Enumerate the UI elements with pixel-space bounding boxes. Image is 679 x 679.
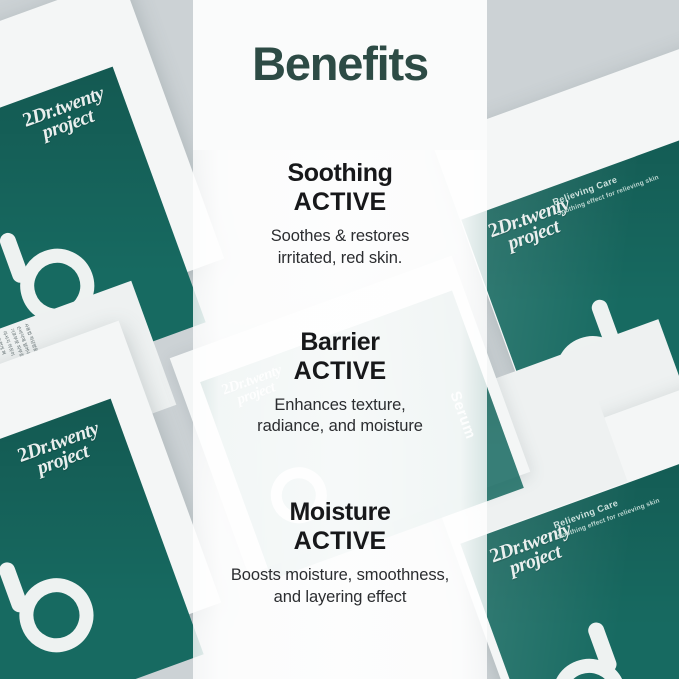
benefit-item-soothing: Soothing ACTIVE Soothes & restores irrit… bbox=[193, 159, 487, 270]
benefit-name: Moisture bbox=[290, 498, 391, 526]
benefit-description-line: irritated, red skin. bbox=[193, 248, 487, 270]
benefit-item-moisture: Moisture ACTIVE Boosts moisture, smoothn… bbox=[193, 498, 487, 609]
benefit-description: Enhances texture, radiance, and moisture bbox=[193, 395, 487, 439]
brand-logotype: 2Dr.twenty project bbox=[15, 419, 107, 482]
benefits-content: Benefits Soothing ACTIVE Soothes & resto… bbox=[193, 0, 487, 679]
benefit-active-label: ACTIVE bbox=[193, 357, 487, 386]
benefit-name: Soothing bbox=[287, 159, 392, 187]
benefit-active-label: ACTIVE bbox=[193, 527, 487, 556]
page-title: Benefits bbox=[193, 40, 487, 87]
benefit-active-label: ACTIVE bbox=[193, 188, 487, 217]
benefit-description-line: and layering effect bbox=[193, 587, 487, 609]
benefit-heading: Barrier ACTIVE bbox=[193, 328, 487, 386]
benefit-description: Boosts moisture, smoothness, and layerin… bbox=[193, 565, 487, 609]
product-logo-tail bbox=[0, 231, 31, 285]
benefit-name: Barrier bbox=[300, 328, 379, 356]
benefit-description-line: Enhances texture, bbox=[193, 395, 487, 417]
product-logo-mark-9 bbox=[542, 648, 637, 679]
benefit-item-barrier: Barrier ACTIVE Enhances texture, radianc… bbox=[193, 328, 487, 439]
product-logo-tail bbox=[0, 560, 30, 614]
product-logo-mark-9 bbox=[9, 568, 104, 663]
benefit-heading: Moisture ACTIVE bbox=[193, 498, 487, 556]
benefit-description: Soothes & restores irritated, red skin. bbox=[193, 226, 487, 270]
benefit-heading: Soothing ACTIVE bbox=[193, 159, 487, 217]
benefit-description-line: Soothes & restores bbox=[193, 226, 487, 248]
brand-logotype: 2Dr.twenty project bbox=[488, 520, 580, 583]
product-benefits-banner: 2Dr.twenty project Relieving Care Serum … bbox=[0, 0, 679, 679]
benefit-description-line: radiance, and moisture bbox=[193, 416, 487, 438]
benefit-description-line: Boosts moisture, smoothness, bbox=[193, 565, 487, 587]
